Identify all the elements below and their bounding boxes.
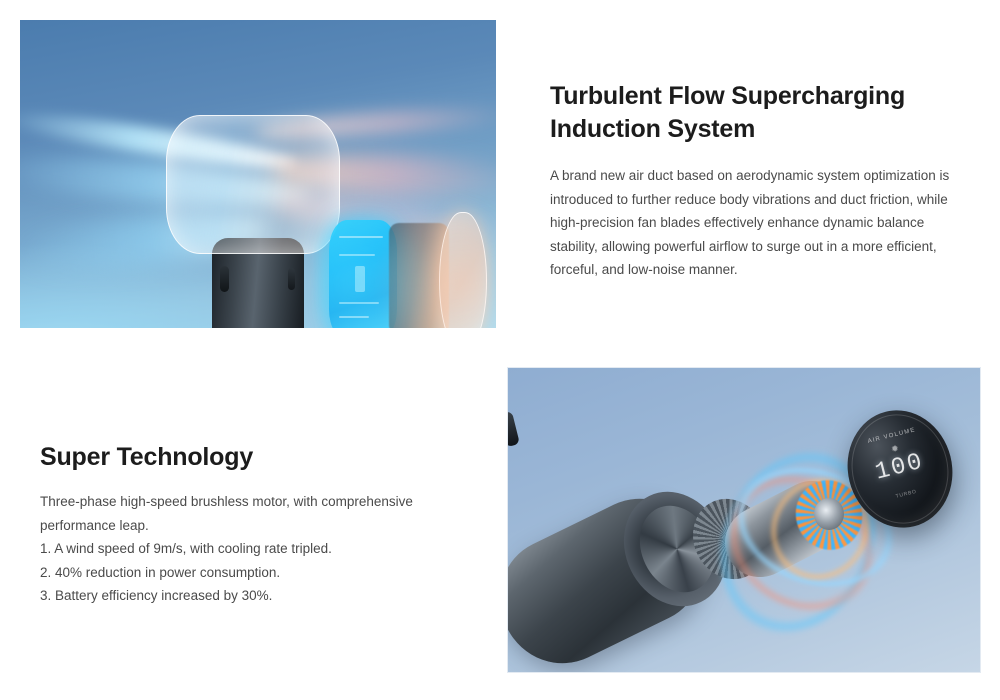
turbulent-flow-body: A brand new air duct based on aerodynami… [550,164,980,282]
body-line: performance leap. [40,514,480,538]
body-line: Three-phase high-speed brushless motor, … [40,490,480,514]
super-technology-heading: Super Technology [40,441,480,474]
body-line: high-precision fan blades effectively en… [550,211,980,235]
heading-line-2: Induction System [550,115,755,143]
handle-button-secondary-icon [288,268,295,290]
body-line: introduced to further reduce body vibrat… [550,188,980,212]
super-technology-text-block: Super Technology Three-phase high-speed … [40,441,480,621]
body-line: A brand new air duct based on aerodynami… [550,164,980,188]
turbulent-flow-text-block: Turbulent Flow Supercharging Induction S… [550,80,980,295]
duct-glow-overlay [317,216,487,328]
impeller-hub [814,498,844,530]
end-cap-hinge [507,411,520,447]
super-technology-body: Three-phase high-speed brushless motor, … [40,490,480,608]
body-line: forceful, and low-noise manner. [550,258,980,282]
heading-line-1: Turbulent Flow Supercharging [550,82,905,110]
turbulent-flow-heading: Turbulent Flow Supercharging Induction S… [550,80,980,146]
air-duct-product-image [20,20,496,328]
body-line: 1. A wind speed of 9m/s, with cooling ra… [40,537,480,561]
handle-button-icon [220,266,229,292]
body-line: 2. 40% reduction in power consumption. [40,561,480,585]
body-line: 3. Battery efficiency increased by 30%. [40,584,480,608]
brushless-motor-product-image: AIR VOLUME ✹ 100 TURBO [507,367,981,673]
transparent-duct-housing [166,115,340,254]
body-line: stability, allowing powerful airflow to … [550,235,980,259]
